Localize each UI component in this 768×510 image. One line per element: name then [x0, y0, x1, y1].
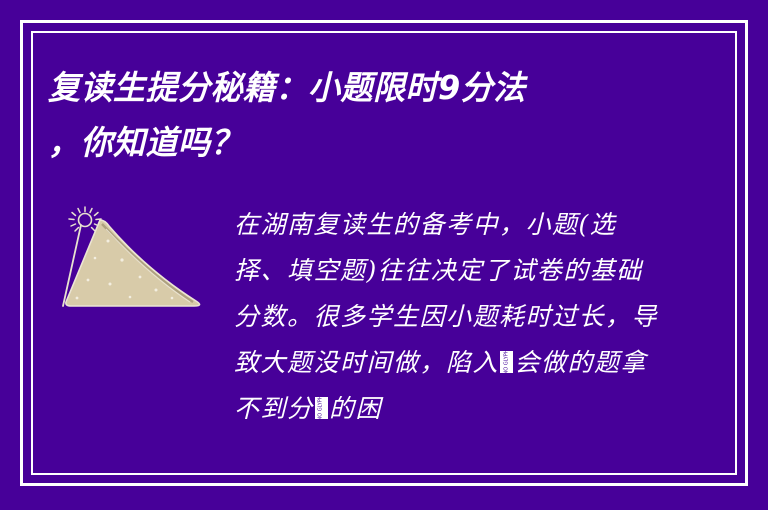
missing-glyph-box: [500, 351, 513, 373]
poster-headline: 复读生提分秘籍：小题限时9分法 ，你知道吗？: [48, 60, 648, 170]
headline-line-1: 复读生提分秘籍：小题限时9分法: [48, 60, 630, 115]
mountain-sunrise-illustration: [52, 198, 212, 313]
headline-line-2: ，你知道吗？: [48, 115, 630, 170]
poster-canvas: 复读生提分秘籍：小题限时9分法 ，你知道吗？: [0, 0, 768, 510]
missing-glyph-box: [315, 397, 328, 419]
body-text-segment-4: 的困: [329, 394, 382, 423]
poster-body-text: 在湖南复读生的备考中，小题(选择、填空题)往往决定了试卷的基础分数。很多学生因小…: [234, 202, 658, 432]
